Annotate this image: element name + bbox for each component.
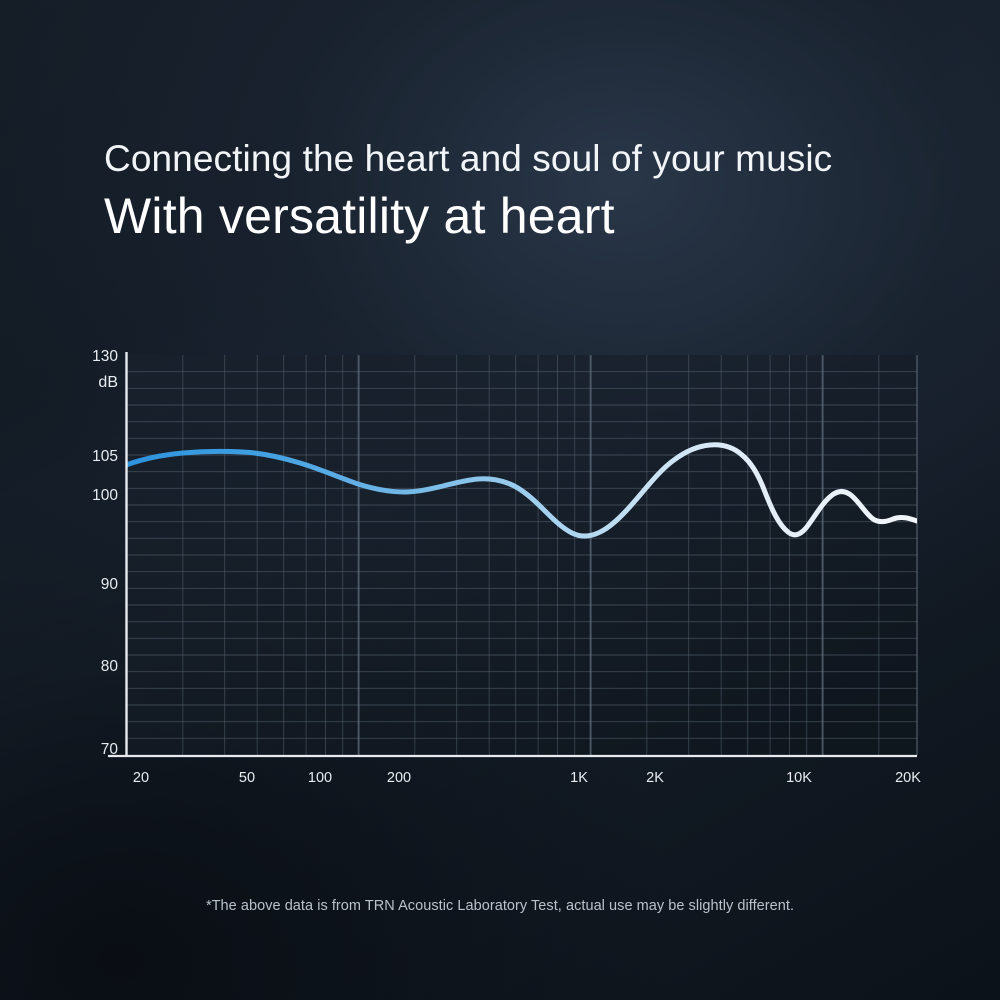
y-axis-labels: 130 dB 105 100 90 80 70	[92, 348, 118, 758]
y-tick-90: 90	[101, 576, 119, 593]
y-tick-100: 100	[92, 487, 118, 504]
x-axis-labels: 20 50 100 200 1K 2K 10K 20K	[133, 770, 921, 786]
y-tick-80: 80	[101, 658, 119, 675]
chart-svg: 130 dB 105 100 90 80 70 20 50 100 200 1K…	[0, 0, 1000, 1000]
y-tick-105: 105	[92, 448, 118, 465]
x-tick-50: 50	[239, 770, 255, 786]
y-tick-70: 70	[101, 741, 119, 758]
x-tick-1k: 1K	[570, 770, 588, 786]
x-tick-20k: 20K	[895, 770, 921, 786]
y-tick-130: 130	[92, 348, 118, 365]
x-tick-10k: 10K	[786, 770, 812, 786]
x-tick-200: 200	[387, 770, 411, 786]
x-tick-2k: 2K	[646, 770, 664, 786]
x-tick-20: 20	[133, 770, 149, 786]
x-tick-100: 100	[308, 770, 332, 786]
y-axis-unit: dB	[98, 374, 118, 391]
promo-banner: Connecting the heart and soul of your mu…	[0, 0, 1000, 1000]
frequency-response-chart: 130 dB 105 100 90 80 70 20 50 100 200 1K…	[0, 0, 1000, 1000]
footnote-text: *The above data is from TRN Acoustic Lab…	[0, 898, 1000, 914]
